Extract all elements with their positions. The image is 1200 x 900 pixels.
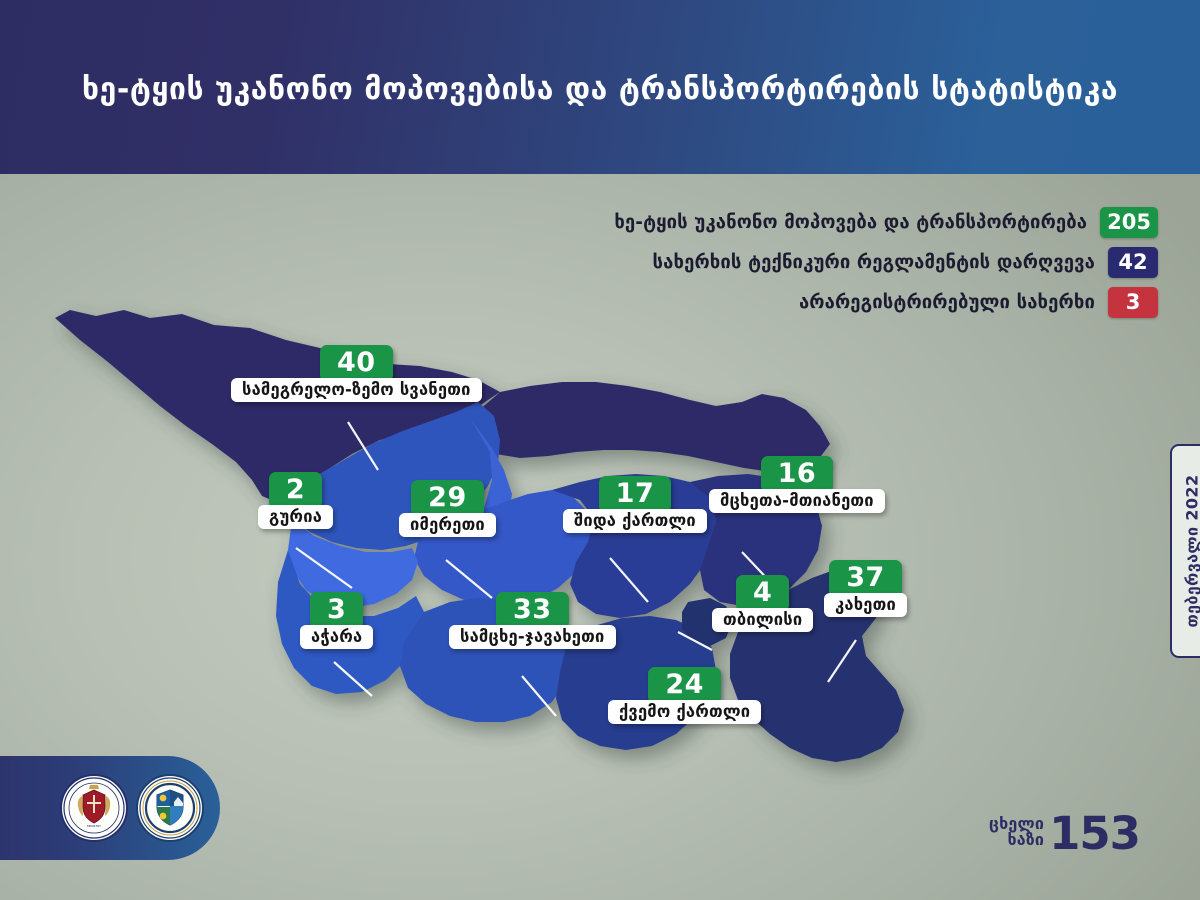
marker-label: კახეთი [824, 593, 907, 617]
leader-line [522, 676, 556, 716]
marker-label: აჭარა [300, 625, 373, 649]
marker-samegrelo[interactable]: 40 სამეგრელო-ზემო სვანეთი [231, 345, 482, 402]
marker-label: ქვემო ქართლი [608, 700, 761, 724]
marker-value: 17 [599, 476, 672, 513]
marker-guria[interactable]: 2 გურია [258, 472, 333, 529]
marker-kakheti[interactable]: 37 კახეთი [824, 560, 907, 617]
marker-adjara[interactable]: 3 აჭარა [300, 592, 373, 649]
marker-label: შიდა ქართლი [563, 509, 707, 533]
leader-line [610, 558, 648, 602]
marker-shida-kartli[interactable]: 17 შიდა ქართლი [563, 476, 707, 533]
ministry-emblem-icon: MINISTRY [60, 774, 128, 842]
leader-lines [0, 150, 1060, 790]
leader-line [828, 640, 856, 682]
marker-value: 24 [648, 667, 721, 704]
leader-line [334, 662, 372, 696]
marker-value: 3 [310, 592, 363, 629]
leader-line [348, 422, 378, 470]
agency-emblem-icon [136, 774, 204, 842]
marker-label: სამცხე-ჯავახეთი [449, 625, 616, 649]
svg-text:MINISTRY: MINISTRY [87, 824, 101, 828]
marker-label: მცხეთა-მთიანეთი [709, 489, 885, 513]
marker-mtskheta-mtianeti[interactable]: 16 მცხეთა-მთიანეთი [709, 456, 885, 513]
marker-label: სამეგრელო-ზემო სვანეთი [231, 378, 482, 402]
georgia-map [0, 150, 1060, 790]
legend-badge-unregistered-sawmill: 3 [1108, 287, 1158, 318]
legend-badge-illegal-logging: 205 [1100, 207, 1158, 238]
agency-crest-svg [138, 776, 202, 840]
leader-line [678, 632, 712, 650]
marker-tbilisi[interactable]: 4 თბილისი [712, 575, 813, 632]
ministry-crest-svg: MINISTRY [62, 776, 126, 840]
marker-value: 2 [269, 472, 322, 509]
marker-label: თბილისი [712, 608, 813, 632]
date-tab-label: თებერვალი 2022 [1183, 475, 1200, 628]
hotline: ცხელი ხაზი 153 [989, 813, 1140, 854]
date-tab: თებერვალი 2022 [1170, 444, 1200, 658]
header-band: ხე-ტყის უკანონო მოპოვებისა და ტრანსპორტი… [0, 0, 1200, 174]
marker-imereti[interactable]: 29 იმერეთი [399, 480, 496, 537]
legend-badge-sawmill-violation: 42 [1108, 247, 1158, 278]
marker-value: 4 [736, 575, 789, 612]
page-title: ხე-ტყის უკანონო მოპოვებისა და ტრანსპორტი… [0, 72, 1200, 107]
marker-value: 33 [496, 592, 569, 629]
marker-kvemo-kartli[interactable]: 24 ქვემო ქართლი [608, 667, 761, 724]
marker-samtskhe-javakheti[interactable]: 33 სამცხე-ჯავახეთი [449, 592, 616, 649]
hotline-number: 153 [1049, 813, 1140, 854]
marker-label: იმერეთი [399, 513, 496, 537]
hotline-line2: ხაზი [1007, 832, 1044, 848]
infographic-root: ხე-ტყის უკანონო მოპოვებისა და ტრანსპორტი… [0, 0, 1200, 900]
hotline-words: ცხელი ხაზი [989, 816, 1044, 849]
marker-label: გურია [258, 505, 333, 529]
marker-value: 37 [829, 560, 902, 597]
marker-value: 40 [320, 345, 393, 382]
marker-value: 16 [761, 456, 834, 493]
marker-value: 29 [411, 480, 484, 517]
logo-bar: MINISTRY [0, 756, 220, 860]
leader-line [296, 548, 352, 588]
